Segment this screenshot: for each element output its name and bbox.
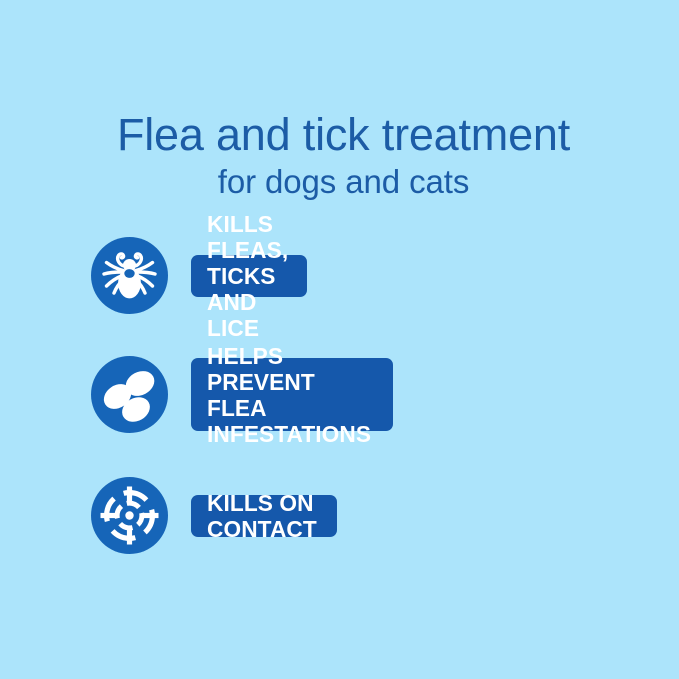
- feature-row: KILLS ON CONTACT: [91, 477, 337, 554]
- feature-row: HELPS PREVENT FLEA INFESTATIONS: [91, 356, 393, 433]
- feature-badge: KILLS ON CONTACT: [191, 495, 337, 537]
- feature-badge: KILLS FLEAS, TICKS AND LICE: [191, 255, 307, 297]
- feature-row: KILLS FLEAS, TICKS AND LICE: [91, 237, 307, 314]
- flea-eggs-icon: [91, 356, 168, 433]
- feature-badge-label: KILLS ON CONTACT: [207, 490, 317, 542]
- feature-badge-label: HELPS PREVENT FLEA INFESTATIONS: [207, 343, 371, 447]
- tick-icon: [91, 237, 168, 314]
- crosshair-target-icon: [91, 477, 168, 554]
- feature-badge-label: KILLS FLEAS, TICKS AND LICE: [207, 211, 288, 341]
- feature-badge: HELPS PREVENT FLEA INFESTATIONS: [191, 358, 393, 431]
- heading-block: Flea and tick treatment for dogs and cat…: [0, 108, 679, 202]
- page-subtitle: for dogs and cats: [0, 162, 679, 202]
- page-title: Flea and tick treatment: [0, 108, 679, 162]
- promo-panel: Flea and tick treatment for dogs and cat…: [0, 0, 679, 679]
